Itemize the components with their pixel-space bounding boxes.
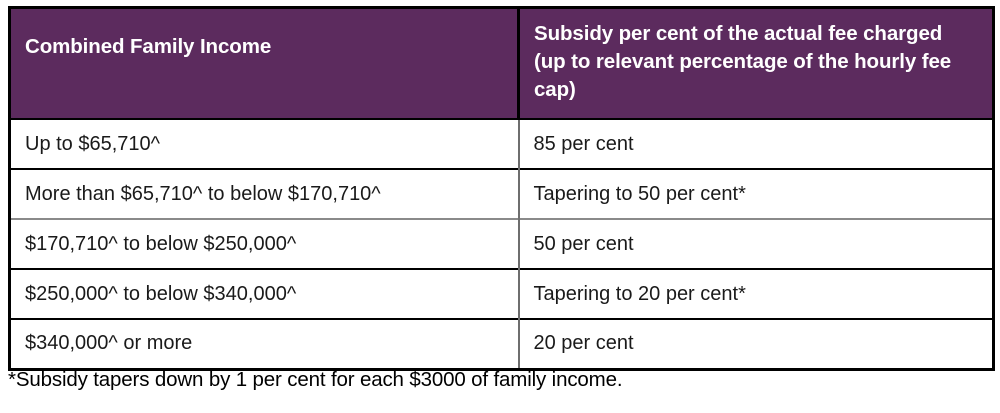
cell-subsidy: Tapering to 50 per cent*	[519, 169, 994, 219]
cell-income: Up to $65,710^	[10, 119, 519, 169]
cell-subsidy: 50 per cent	[519, 219, 994, 269]
table-header: Combined Family Income Subsidy per cent …	[10, 8, 994, 120]
page-root: Combined Family Income Subsidy per cent …	[0, 0, 1000, 413]
table-row: $250,000^ to below $340,000^ Tapering to…	[10, 269, 994, 319]
cell-income: $170,710^ to below $250,000^	[10, 219, 519, 269]
column-header-combined-family-income: Combined Family Income	[10, 8, 519, 120]
table-row: $340,000^ or more 20 per cent	[10, 319, 994, 369]
cell-income: $340,000^ or more	[10, 319, 519, 369]
child-care-subsidy-table: Combined Family Income Subsidy per cent …	[8, 6, 995, 371]
table-row: Up to $65,710^ 85 per cent	[10, 119, 994, 169]
cell-subsidy: 20 per cent	[519, 319, 994, 369]
cell-subsidy: Tapering to 20 per cent*	[519, 269, 994, 319]
table-row: More than $65,710^ to below $170,710^ Ta…	[10, 169, 994, 219]
header-row: Combined Family Income Subsidy per cent …	[10, 8, 994, 120]
cell-income: $250,000^ to below $340,000^	[10, 269, 519, 319]
table-row: $170,710^ to below $250,000^ 50 per cent	[10, 219, 994, 269]
cell-subsidy: 85 per cent	[519, 119, 994, 169]
cell-income: More than $65,710^ to below $170,710^	[10, 169, 519, 219]
table-body: Up to $65,710^ 85 per cent More than $65…	[10, 119, 994, 369]
table-footnote: *Subsidy tapers down by 1 per cent for e…	[8, 368, 622, 392]
column-header-subsidy-per-cent: Subsidy per cent of the actual fee charg…	[519, 8, 994, 120]
